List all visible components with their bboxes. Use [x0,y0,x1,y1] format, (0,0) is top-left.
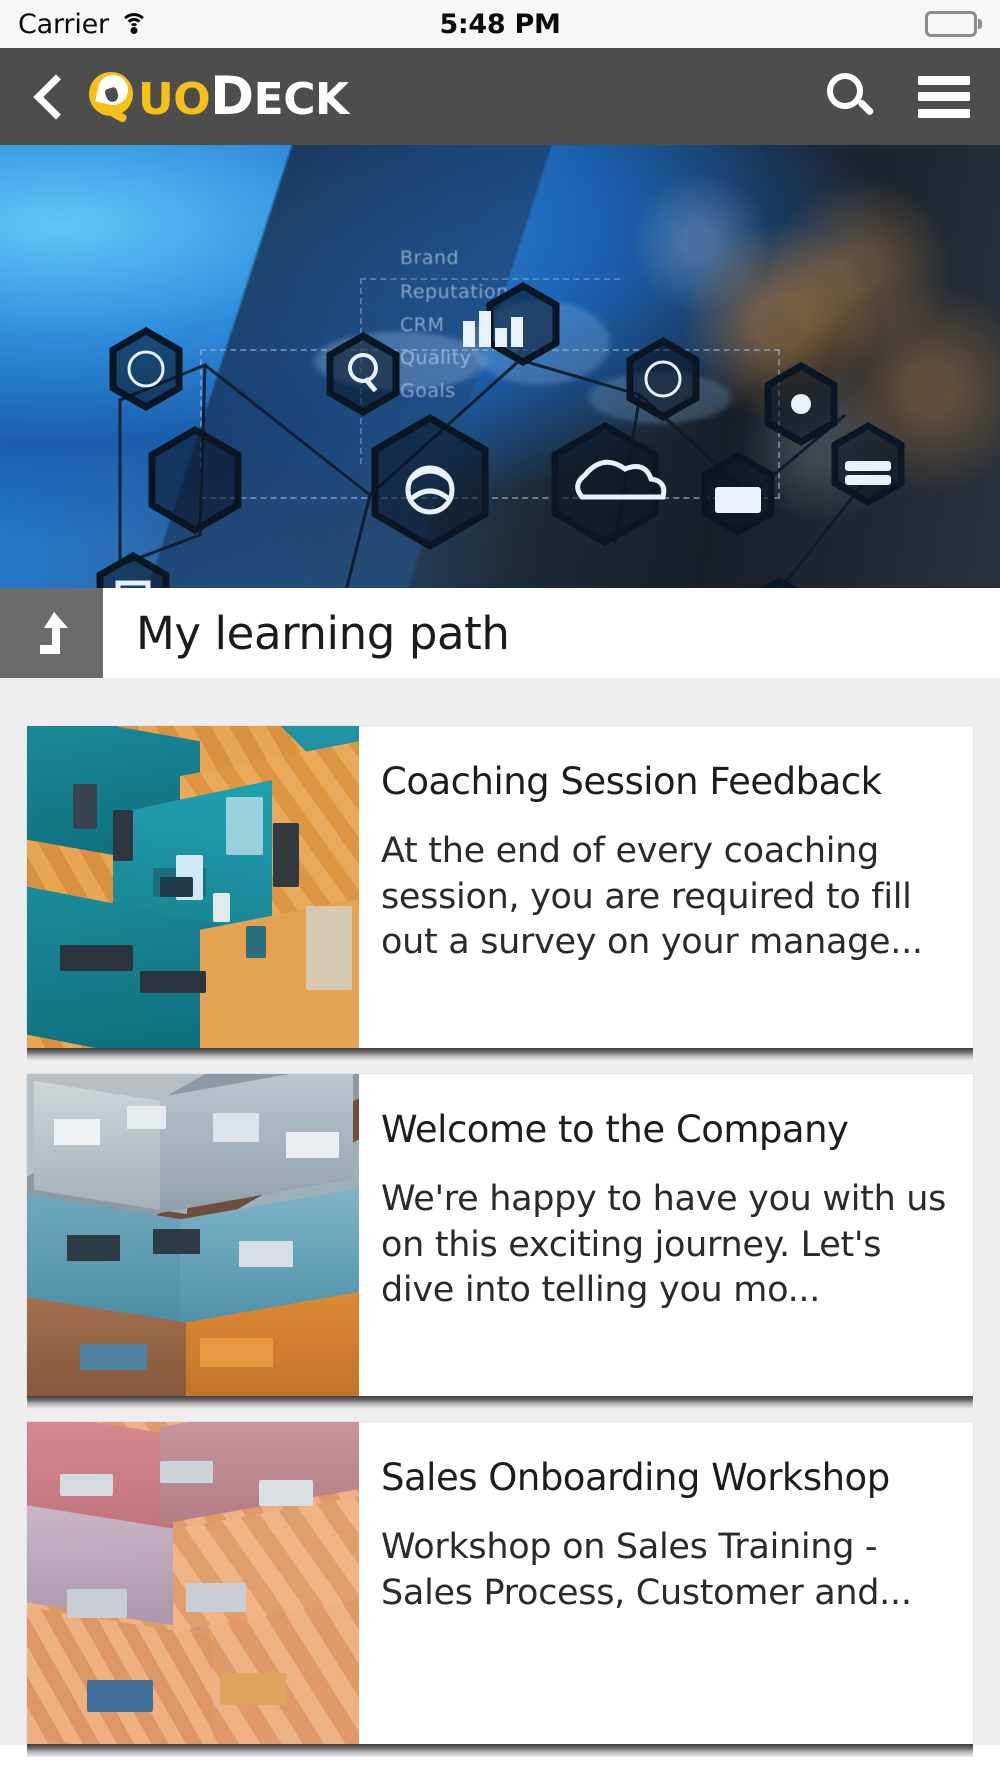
search-icon[interactable] [824,71,876,123]
hero-banner: BrandReputationCRMQualityGoals [0,145,1000,588]
learning-path-arrow-icon[interactable] [0,588,103,678]
isometric-workspace-illustration [27,1422,359,1744]
logo-wordmark: UODECK [138,66,349,127]
quodeck-logo[interactable]: UODECK [86,66,349,127]
card-title: Sales Onboarding Workshop [381,1456,949,1499]
card-body: Coaching Session Feedback At the end of … [359,726,973,1048]
learning-path-card-list: Coaching Session Feedback At the end of … [0,725,1000,1745]
quodeck-q-mark-icon [86,70,136,124]
list-item[interactable]: Welcome to the Company We're happy to ha… [26,1073,974,1397]
list-item[interactable]: Coaching Session Feedback At the end of … [26,725,974,1049]
logo-text-uo: UO [138,74,210,125]
page-title: My learning path [103,588,510,678]
hamburger-menu-icon[interactable] [918,76,970,118]
card-thumbnail [27,1422,359,1744]
card-thumbnail [27,726,359,1048]
ios-status-bar: Carrier 5:48 PM [0,0,1000,48]
section-header: My learning path [0,588,1000,678]
nav-actions [824,71,970,123]
card-thumbnail [27,1074,359,1396]
learning-path-arrow-glyph [29,606,75,660]
back-button[interactable] [26,72,72,122]
logo-text-eck: ECK [254,74,349,125]
isometric-office-illustration [27,1074,359,1396]
card-description: Workshop on Sales Training - Sales Proce… [381,1525,949,1616]
isometric-gym-illustration [27,726,359,1048]
logo-text-d: D [210,66,254,127]
card-body: Welcome to the Company We're happy to ha… [359,1074,973,1396]
list-item[interactable]: Sales Onboarding Workshop Workshop on Sa… [26,1421,974,1745]
app-navigation-bar: UODECK [0,48,1000,145]
card-description: We're happy to have you with us on this … [381,1177,949,1314]
card-body: Sales Onboarding Workshop Workshop on Sa… [359,1422,973,1744]
card-description: At the end of every coaching session, yo… [381,829,949,966]
clock-label: 5:48 PM [0,9,1000,40]
card-title: Welcome to the Company [381,1108,949,1151]
card-title: Coaching Session Feedback [381,760,949,803]
section-spacer [0,678,1000,725]
hero-hex-network [0,145,1000,588]
